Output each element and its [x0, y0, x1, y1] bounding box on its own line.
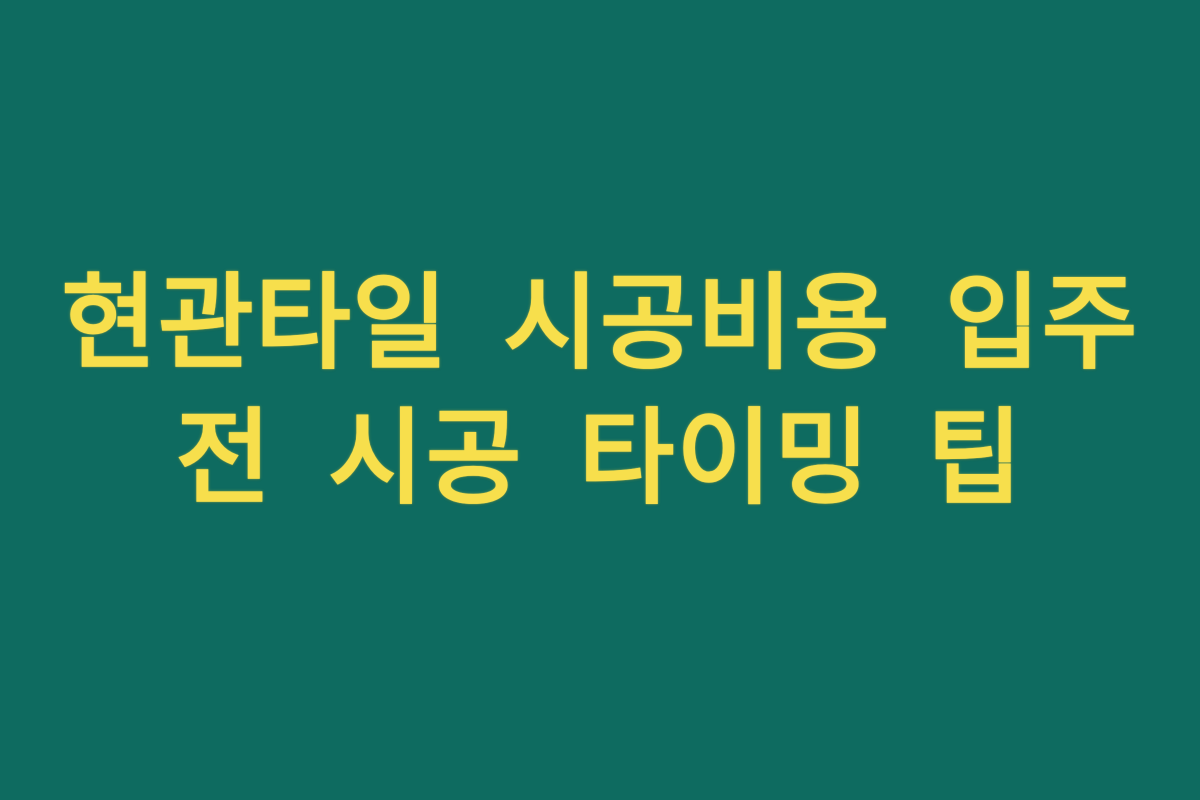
- headline-line-1: 현관타일 시공비용 입주: [40, 256, 1160, 391]
- title-banner: 현관타일 시공비용 입주 전 시공 타이밍 팁: [0, 0, 1200, 800]
- headline-block: 현관타일 시공비용 입주 전 시공 타이밍 팁: [40, 256, 1160, 526]
- headline-line-2: 전 시공 타이밍 팁: [40, 391, 1160, 526]
